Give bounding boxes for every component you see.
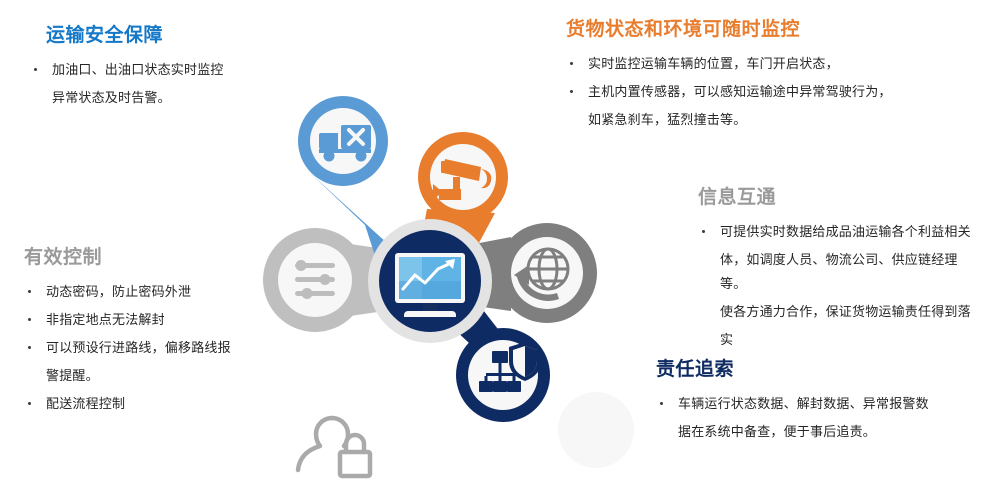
block-effective-control: 有效控制 动态密码，防止密码外泄 非指定地点无法解封 可以预设行进路线，偏移路线… bbox=[24, 246, 292, 420]
list-item: 使各方通力合作，保证货物运输责任得到落 bbox=[698, 300, 978, 324]
transport-safety-title: 运输安全保障 bbox=[30, 24, 290, 48]
list-item: 加油口、出油口状态实时监控 bbox=[30, 58, 290, 82]
list-item: 动态密码，防止密码外泄 bbox=[24, 280, 292, 304]
info-exchange-title: 信息互通 bbox=[698, 186, 978, 210]
list-item: 实时监控运输车辆的位置，车门开启状态， bbox=[566, 52, 966, 76]
effective-control-bullets: 动态密码，防止密码外泄 非指定地点无法解封 可以预设行进路线，偏移路线报 警提醒… bbox=[24, 280, 292, 416]
list-item: 实 bbox=[698, 328, 978, 352]
list-item: 主机内置传感器，可以感知运输途中异常驾驶行为， bbox=[566, 80, 966, 104]
infographic-page: 运输安全保障 加油口、出油口状态实时监控 异常状态及时告警。 货物状态和环境可随… bbox=[0, 0, 992, 482]
user-lock-icon bbox=[286, 404, 378, 482]
responsibility-trace-title: 责任追索 bbox=[656, 358, 976, 382]
list-item: 如紧急刹车，猛烈撞击等。 bbox=[566, 108, 966, 132]
cargo-monitor-bullets: 实时监控运输车辆的位置，车门开启状态， 主机内置传感器，可以感知运输途中异常驾驶… bbox=[566, 52, 966, 132]
central-hub-diagram bbox=[255, 85, 605, 425]
list-item: 非指定地点无法解封 bbox=[24, 308, 292, 332]
list-item: 可提供实时数据给成品油运输各个利益相关 bbox=[698, 220, 978, 244]
list-item: 警提醒。 bbox=[24, 364, 292, 388]
blank-circle-shape bbox=[558, 392, 634, 468]
transport-safety-bullets: 加油口、出油口状态实时监控 异常状态及时告警。 bbox=[30, 58, 290, 110]
responsibility-trace-bullets: 车辆运行状态数据、解封数据、异常报警数 据在系统中备查，便于事后追责。 bbox=[656, 392, 976, 444]
list-item: 可以预设行进路线，偏移路线报 bbox=[24, 336, 292, 360]
list-item: 异常状态及时告警。 bbox=[30, 86, 290, 110]
sliders-icon bbox=[295, 260, 335, 299]
block-info-exchange: 信息互通 可提供实时数据给成品油运输各个利益相关 体，如调度人员、物流公司、供应… bbox=[698, 186, 978, 356]
list-item: 体，如调度人员、物流公司、供应链经理等。 bbox=[698, 248, 978, 296]
cargo-monitor-title: 货物状态和环境可随时监控 bbox=[566, 18, 966, 42]
effective-control-title: 有效控制 bbox=[24, 246, 292, 270]
list-item: 车辆运行状态数据、解封数据、异常报警数 bbox=[656, 392, 976, 416]
block-transport-safety: 运输安全保障 加油口、出油口状态实时监控 异常状态及时告警。 bbox=[30, 24, 290, 114]
block-cargo-monitor: 货物状态和环境可随时监控 实时监控运输车辆的位置，车门开启状态， 主机内置传感器… bbox=[566, 18, 966, 136]
info-exchange-bullets: 可提供实时数据给成品油运输各个利益相关 体，如调度人员、物流公司、供应链经理等。… bbox=[698, 220, 978, 352]
block-responsibility-trace: 责任追索 车辆运行状态数据、解封数据、异常报警数 据在系统中备查，便于事后追责。 bbox=[656, 358, 976, 448]
hub-center bbox=[368, 219, 492, 343]
list-item: 据在系统中备查，便于事后追责。 bbox=[656, 420, 976, 444]
list-item: 配送流程控制 bbox=[24, 392, 292, 416]
